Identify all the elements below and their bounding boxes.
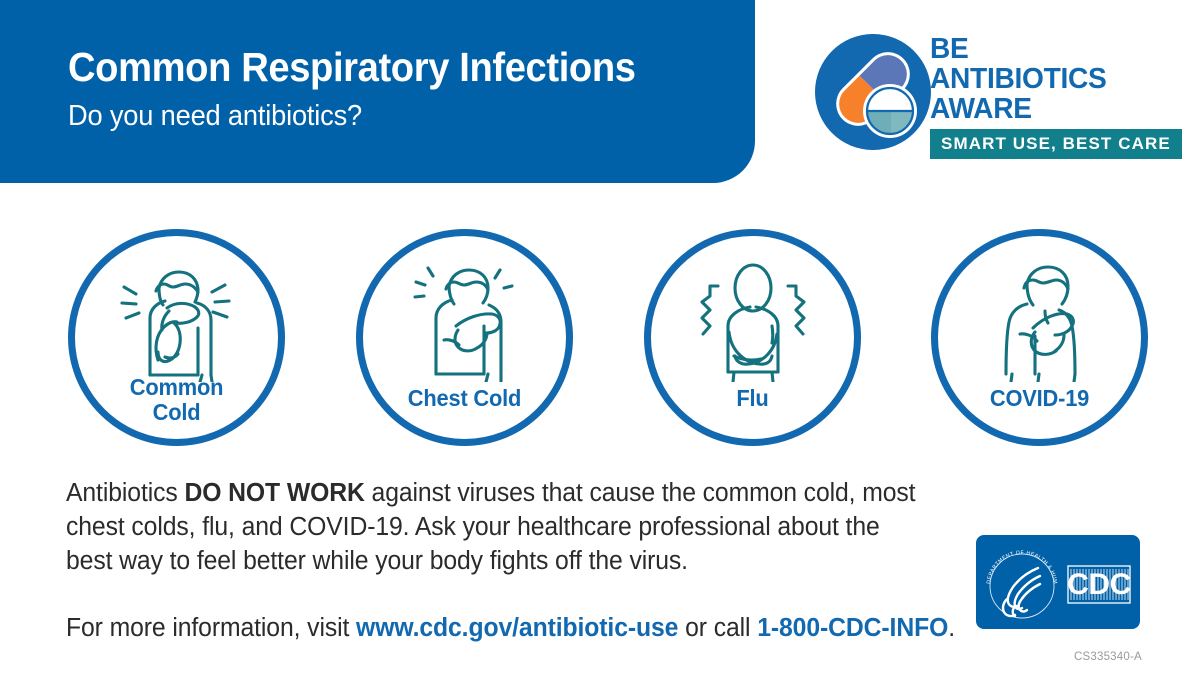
cdc-hhs-logo: DEPARTMENT OF HEALTH & HUMAN SERVICES US…	[976, 535, 1140, 629]
cdc-hhs-logo-art: DEPARTMENT OF HEALTH & HUMAN SERVICES US…	[976, 535, 1140, 629]
hhs-seal-icon: DEPARTMENT OF HEALTH & HUMAN SERVICES US…	[976, 535, 1058, 618]
person-shivering-with-chills-icon	[651, 254, 854, 384]
baa-tagline: SMART USE, BEST CARE	[930, 129, 1182, 159]
capsule-and-pill-icon	[812, 31, 934, 153]
illness-label-covid-19: COVID-19	[943, 386, 1136, 411]
person-coughing-into-elbow-icon	[363, 254, 566, 384]
cs-number: CS335340-A	[1074, 651, 1142, 663]
footer-suffix: .	[948, 614, 955, 642]
body-emphasis: DO NOT WORK	[184, 479, 364, 507]
illness-label-common-cold: Common Cold	[80, 375, 273, 425]
body-lead: Antibiotics	[66, 479, 184, 507]
cdc-antibiotic-use-link[interactable]: www.cdc.gov/antibiotic-use	[356, 614, 678, 642]
baa-line-3: AWARE	[930, 94, 1155, 124]
footer-paragraph: For more information, visit www.cdc.gov/…	[66, 612, 939, 644]
illness-label-chest-cold: Chest Cold	[368, 386, 561, 411]
baa-line-1: BE	[930, 34, 1155, 64]
page-subtitle: Do you need antibiotics?	[68, 100, 362, 133]
header-banner: Common Respiratory Infections Do you nee…	[0, 0, 755, 183]
illness-label-flu: Flu	[656, 386, 849, 411]
illness-card-common-cold: Common Cold	[68, 229, 285, 446]
baa-wordmark: BE ANTIBIOTICS AWARE	[930, 34, 1162, 124]
page-title: Common Respiratory Infections	[68, 44, 636, 91]
body-paragraph: Antibiotics DO NOT WORK against viruses …	[66, 476, 920, 578]
illness-card-covid-19: COVID-19	[931, 229, 1148, 446]
baa-line-2: ANTIBIOTICS	[930, 64, 1155, 94]
illness-card-flu: Flu	[644, 229, 861, 446]
illness-circle-row: Common Cold	[68, 229, 1148, 446]
footer-prefix: For more information, visit	[66, 614, 356, 642]
footer-middle: or call	[678, 614, 757, 642]
cdc-acronym-box: CDC	[1067, 566, 1131, 603]
illness-card-chest-cold: Chest Cold	[356, 229, 573, 446]
person-coughing-into-elbow-icon	[938, 254, 1141, 384]
person-sneezing-into-tissue-icon	[75, 254, 278, 384]
be-antibiotics-aware-logo: BE ANTIBIOTICS AWARE SMART USE, BEST CAR…	[812, 30, 1162, 160]
cdc-info-phone: 1-800-CDC-INFO	[757, 614, 948, 642]
svg-text:CDC: CDC	[1067, 568, 1131, 601]
illness-label-line2: Cold	[80, 400, 273, 425]
svg-text:DEPARTMENT OF HEALTH & HUMAN S: DEPARTMENT OF HEALTH & HUMAN SERVICES US…	[976, 535, 1058, 585]
illness-label-line1: Common	[80, 375, 273, 400]
infographic-poster: Common Respiratory Infections Do you nee…	[0, 0, 1200, 675]
